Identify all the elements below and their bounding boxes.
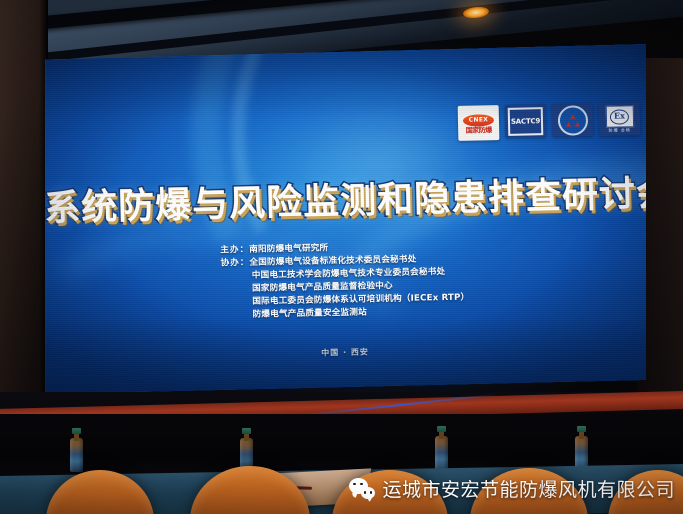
watermark-text: 运城市安宏节能防爆风机有限公司 bbox=[382, 475, 675, 502]
sactc9-mark: SACTC9 bbox=[508, 107, 544, 136]
water-bottle bbox=[575, 426, 588, 470]
cnex-caption: 国家防爆 bbox=[466, 127, 492, 135]
circular-emblem-triangle bbox=[565, 114, 579, 126]
circular-emblem-ring bbox=[557, 105, 588, 136]
cnex-logo: CNEX 国家防爆 bbox=[458, 105, 500, 141]
cnex-oval-mark: CNEX bbox=[463, 114, 494, 127]
wall-left bbox=[0, 0, 48, 430]
ex-oval-text: Ex bbox=[610, 109, 629, 124]
bottle-neck bbox=[439, 431, 444, 439]
sactc9-logo: SACTC9 bbox=[505, 104, 547, 138]
bottle-neck bbox=[579, 431, 584, 439]
wechat-icon bbox=[349, 478, 375, 500]
water-bottle bbox=[70, 428, 83, 472]
bottle-body bbox=[70, 438, 83, 472]
venue-line: 中国 · 西安 bbox=[321, 348, 369, 358]
wechat-eye bbox=[360, 483, 363, 486]
organizer-block: 主办：南阳防爆电气研究所 协办：全国防爆电气设备标准化技术委员会秘书处 中国电工… bbox=[44, 236, 646, 326]
bottle-cap bbox=[437, 426, 446, 432]
ex-certification-logo: Ex 防爆 合格 bbox=[599, 102, 641, 136]
logo-row: CNEX 国家防爆 SACTC9 Ex 防爆 合格 bbox=[458, 102, 641, 141]
wechat-eye bbox=[353, 483, 356, 486]
watermark: 运城市安宏节能防爆风机有限公司 bbox=[349, 475, 675, 502]
bottle-neck bbox=[244, 433, 249, 441]
water-bottle bbox=[435, 426, 448, 470]
bottle-neck bbox=[74, 433, 79, 441]
organizer-label-host: 主办： bbox=[220, 245, 249, 256]
conference-photo: CNEX 国家防爆 SACTC9 Ex 防爆 合格 系统防爆与风险监测和隐患排查… bbox=[0, 0, 683, 514]
organizer-lines: 主办：南阳防爆电气研究所 协办：全国防爆电气设备标准化技术委员会秘书处 中国电工… bbox=[220, 240, 470, 323]
circular-emblem-logo bbox=[552, 103, 594, 137]
bottle-cap bbox=[242, 428, 251, 434]
bottle-cap bbox=[577, 426, 586, 432]
organizer-value-coorg: 全国防爆电气设备标准化技术委员会秘书处 bbox=[249, 255, 416, 268]
led-screen: CNEX 国家防爆 SACTC9 Ex 防爆 合格 系统防爆与风险监测和隐患排查… bbox=[44, 42, 646, 394]
ex-caption: 防爆 合格 bbox=[609, 128, 631, 132]
ex-mark-box: Ex bbox=[605, 105, 633, 128]
bottle-body bbox=[435, 436, 448, 470]
organizer-label-coorg: 协办： bbox=[221, 258, 250, 269]
bottle-cap bbox=[72, 428, 81, 434]
organizer-value-host: 南阳防爆电气研究所 bbox=[249, 243, 328, 255]
